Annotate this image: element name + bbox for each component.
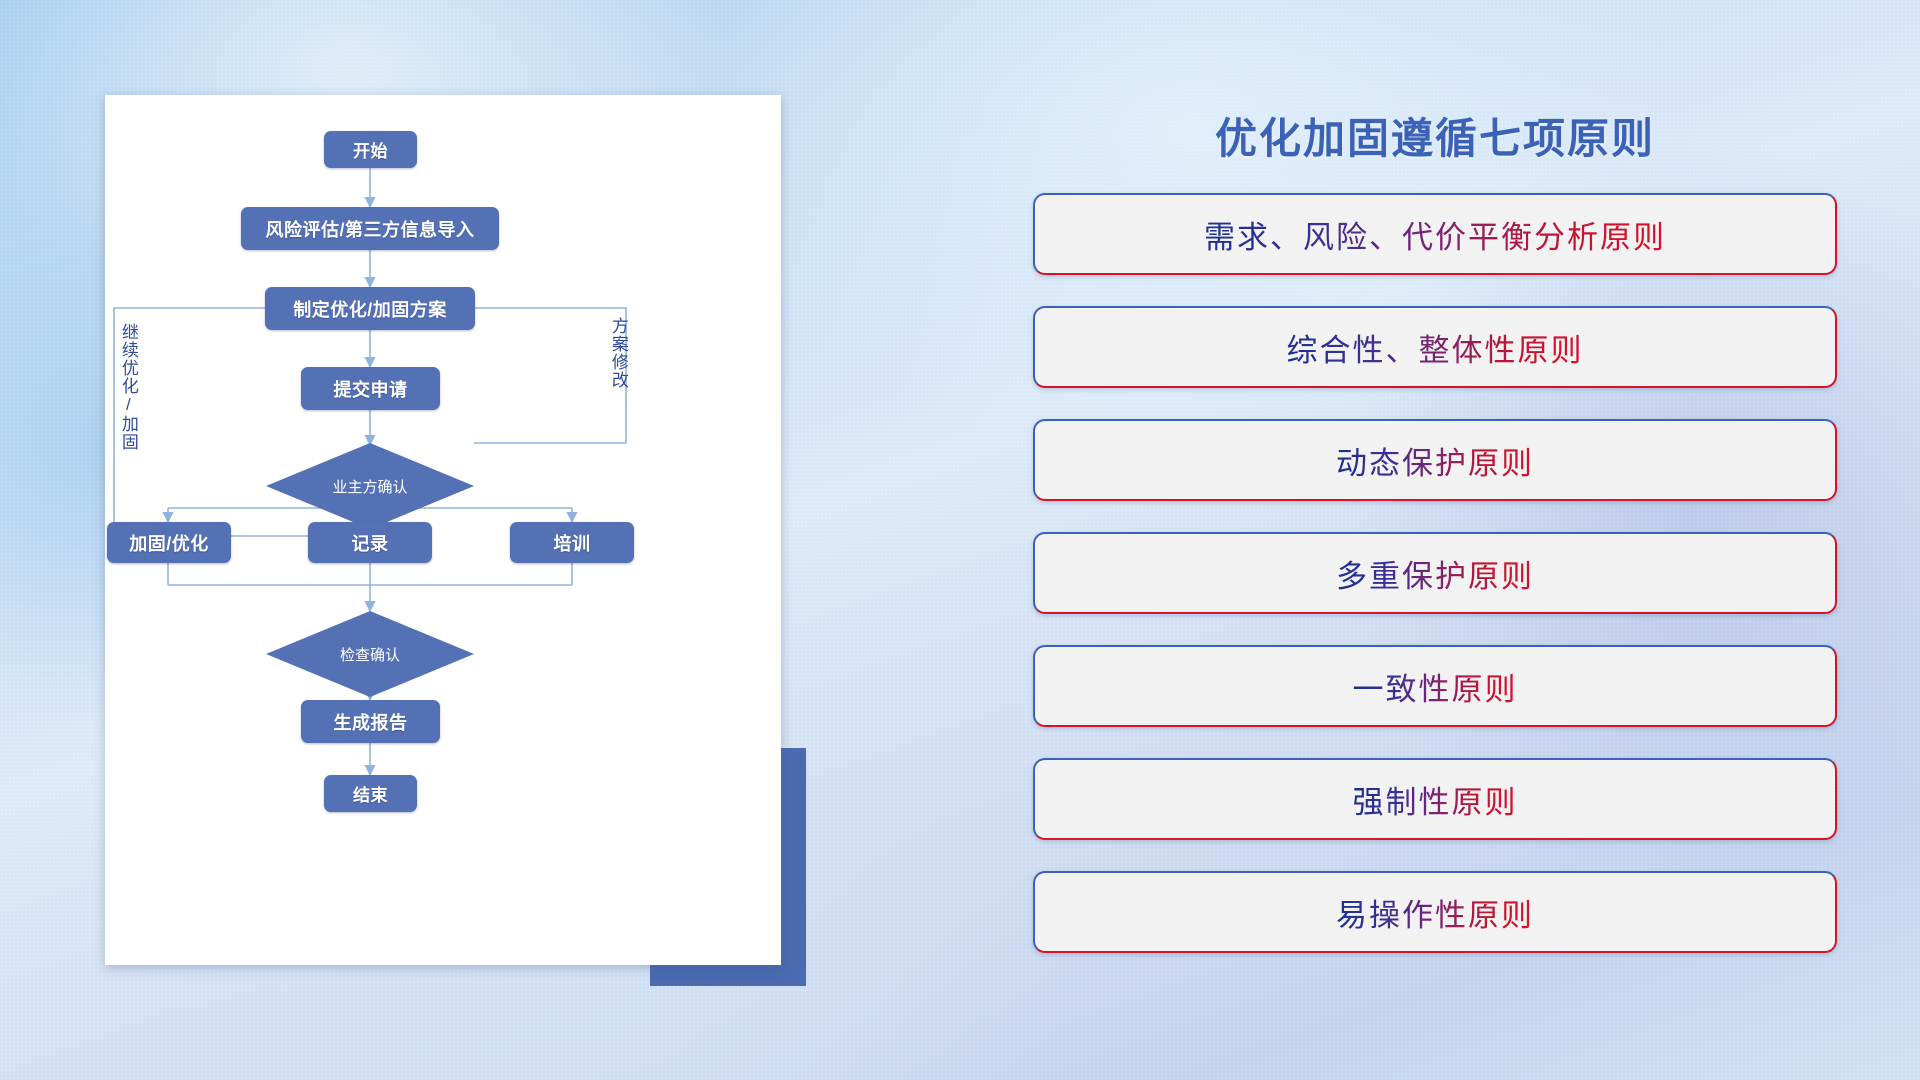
flow-node-label: 培训 [554, 530, 591, 556]
flow-node-label: 记录 [352, 530, 389, 556]
flow-node-risk-assessment[interactable]: 风险评估/第三方信息导入 [241, 207, 499, 250]
principle-item[interactable]: 一致性原则 [1033, 645, 1837, 727]
flow-node-start[interactable]: 开始 [324, 131, 417, 168]
principle-item[interactable]: 需求、风险、代价平衡分析原则 [1033, 193, 1837, 275]
principles-panel: 优化加固遵循七项原则 需求、风险、代价平衡分析原则 综合性、整体性原则 动态保护… [1020, 80, 1850, 1010]
flow-edge-label-plan-revision: 方案修改 [609, 317, 627, 389]
principle-item[interactable]: 强制性原则 [1033, 758, 1837, 840]
flow-node-label: 检查确认 [340, 644, 400, 665]
flow-node-label: 加固/优化 [129, 530, 209, 556]
flow-node-label: 业主方确认 [332, 476, 407, 497]
flow-node-label: 制定优化/加固方案 [293, 296, 447, 322]
panel-title: 优化加固遵循七项原则 [1020, 105, 1850, 166]
flow-edge-label-continue-optimize: 继续优化/加固 [119, 323, 137, 451]
flow-node-end[interactable]: 结束 [324, 775, 417, 812]
principle-label: 需求、风险、代价平衡分析原则 [1204, 212, 1666, 257]
flow-node-label: 风险评估/第三方信息导入 [266, 216, 475, 242]
flowchart-canvas: 开始 风险评估/第三方信息导入 制定优化/加固方案 提交申请 业主方确认 加固/… [105, 95, 781, 965]
principle-item[interactable]: 综合性、整体性原则 [1033, 306, 1837, 388]
principle-label: 动态保护原则 [1336, 438, 1534, 483]
flow-node-training[interactable]: 培训 [510, 522, 634, 563]
flow-node-report[interactable]: 生成报告 [301, 700, 440, 743]
flowchart-card: 开始 风险评估/第三方信息导入 制定优化/加固方案 提交申请 业主方确认 加固/… [105, 95, 781, 965]
flow-node-submit[interactable]: 提交申请 [301, 367, 440, 410]
principle-label: 易操作性原则 [1336, 890, 1534, 935]
flow-node-label: 结束 [353, 781, 388, 806]
flow-node-plan[interactable]: 制定优化/加固方案 [265, 287, 475, 330]
flow-node-reinforce[interactable]: 加固/优化 [107, 522, 231, 563]
principle-label: 强制性原则 [1353, 777, 1518, 822]
flow-node-label: 提交申请 [334, 376, 408, 402]
principle-label: 综合性、整体性原则 [1287, 325, 1584, 370]
principle-item[interactable]: 多重保护原则 [1033, 532, 1837, 614]
flow-node-record[interactable]: 记录 [308, 522, 432, 563]
principle-item[interactable]: 动态保护原则 [1033, 419, 1837, 501]
flow-node-label: 生成报告 [334, 709, 408, 735]
principle-label: 多重保护原则 [1336, 551, 1534, 596]
flow-node-label: 开始 [353, 137, 388, 162]
principle-label: 一致性原则 [1353, 664, 1518, 709]
principle-item[interactable]: 易操作性原则 [1033, 871, 1837, 953]
